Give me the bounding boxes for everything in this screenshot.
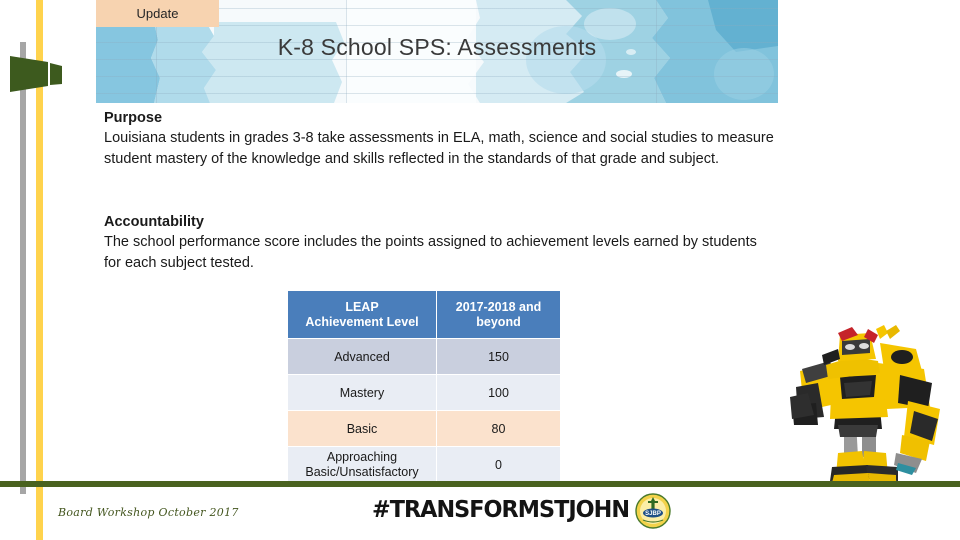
sjbp-logo-icon: SJBP [634, 492, 672, 530]
cell-level: Basic [288, 411, 437, 447]
cell-level: Mastery [288, 375, 437, 411]
column-header-value-line1: 2017-2018 and [437, 300, 560, 315]
accountability-section: Accountability The school performance sc… [104, 214, 776, 274]
purpose-body: Louisiana students in grades 3-8 take as… [104, 128, 776, 170]
column-header-value: 2017-2018 and beyond [437, 291, 561, 339]
green-flag-icon [8, 52, 66, 94]
column-header-level-line2: Achievement Level [288, 315, 436, 330]
table-header-row: LEAP Achievement Level 2017-2018 and bey… [288, 291, 561, 339]
cell-level-line2: Basic/Unsatisfactory [288, 465, 436, 480]
purpose-section: Purpose Louisiana students in grades 3-8… [104, 110, 776, 170]
cell-level-line1: Approaching [288, 450, 436, 465]
purpose-heading: Purpose [104, 110, 776, 126]
footer-note: Board Workshop October 2017 [58, 506, 239, 519]
update-badge-label: Update [137, 6, 179, 21]
campaign-hashtag: #TRANSFORMSTJOHN [372, 497, 629, 523]
update-badge: Update [96, 0, 219, 27]
cell-level: Approaching Basic/Unsatisfactory [288, 447, 437, 483]
table-row: Basic 80 [288, 411, 561, 447]
table-row: Advanced 150 [288, 339, 561, 375]
cell-level: Advanced [288, 339, 437, 375]
column-header-level-line1: LEAP [288, 300, 436, 315]
cell-value: 150 [437, 339, 561, 375]
accountability-body: The school performance score includes th… [104, 232, 776, 274]
cell-value: 100 [437, 375, 561, 411]
cell-value: 80 [437, 411, 561, 447]
gray-rail-decoration [20, 42, 26, 494]
slide-canvas: K-8 School SPS: Assessments Update Purpo… [0, 0, 960, 540]
page-title: K-8 School SPS: Assessments [96, 34, 778, 61]
table-row: Mastery 100 [288, 375, 561, 411]
leap-achievement-table: LEAP Achievement Level 2017-2018 and bey… [287, 290, 561, 483]
svg-text:SJBP: SJBP [645, 511, 661, 517]
green-divider-bar [0, 481, 960, 487]
yellow-robot-character [782, 325, 954, 485]
table-row: Approaching Basic/Unsatisfactory 0 [288, 447, 561, 483]
cell-value: 0 [437, 447, 561, 483]
accountability-heading: Accountability [104, 214, 776, 230]
column-header-value-line2: beyond [437, 315, 560, 330]
column-header-level: LEAP Achievement Level [288, 291, 437, 339]
